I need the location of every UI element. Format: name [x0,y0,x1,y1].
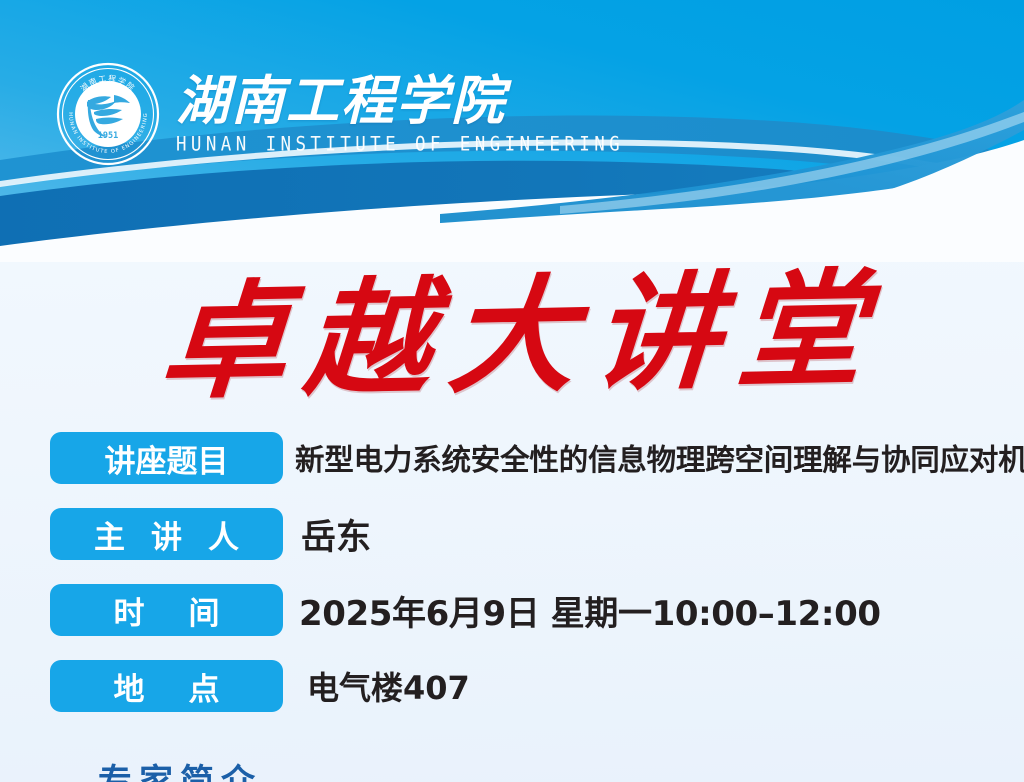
info-row-location: 地点 电气楼407 [0,660,1024,712]
value-time: 2025年6月9日 星期一10:00–12:00 [283,586,1024,635]
calligraphy-title: 卓越大讲堂 [0,243,1024,408]
crest-artwork: 1951 湖南工程学院 HUNAN INSTITUTE OF ENGINEERI… [56,62,160,166]
lecture-poster: 1951 湖南工程学院 HUNAN INSTITUTE OF ENGINEERI… [0,0,1024,782]
label-chip-location: 地点 [50,660,283,712]
label-chip-time: 时间 [50,584,283,636]
wordmark: 湖南工程学院 HUNAN INSTITUTE OF ENGINEERING [176,73,624,154]
institution-name-en: HUNAN INSTITUTE OF ENGINEERING [176,133,624,155]
section-heading-expert-profile: 专家简介 [98,754,262,782]
calligraphy-title-text: 卓越大讲堂 [135,227,889,423]
info-rows: 讲座题目 新型电力系统安全性的信息物理跨空间理解与协同应对机制 主讲人 岳东 时… [0,432,1024,712]
info-row-speaker: 主讲人 岳东 [0,508,1024,560]
info-row-lecture-title: 讲座题目 新型电力系统安全性的信息物理跨空间理解与协同应对机制 [0,432,1024,484]
value-lecture-title: 新型电力系统安全性的信息物理跨空间理解与协同应对机制 [283,437,1024,479]
value-speaker: 岳东 [283,509,1024,560]
crest-year-text: 1951 [98,131,118,141]
header-banner: 1951 湖南工程学院 HUNAN INSTITUTE OF ENGINEERI… [0,0,1024,262]
university-crest-icon: 1951 湖南工程学院 HUNAN INSTITUTE OF ENGINEERI… [56,62,160,166]
brand-lockup: 1951 湖南工程学院 HUNAN INSTITUTE OF ENGINEERI… [56,62,624,166]
info-row-time: 时间 2025年6月9日 星期一10:00–12:00 [0,584,1024,636]
label-chip-lecture-title: 讲座题目 [50,432,283,484]
label-chip-speaker: 主讲人 [50,508,283,560]
value-location: 电气楼407 [283,663,1024,709]
institution-name-cn: 湖南工程学院 [176,75,624,130]
